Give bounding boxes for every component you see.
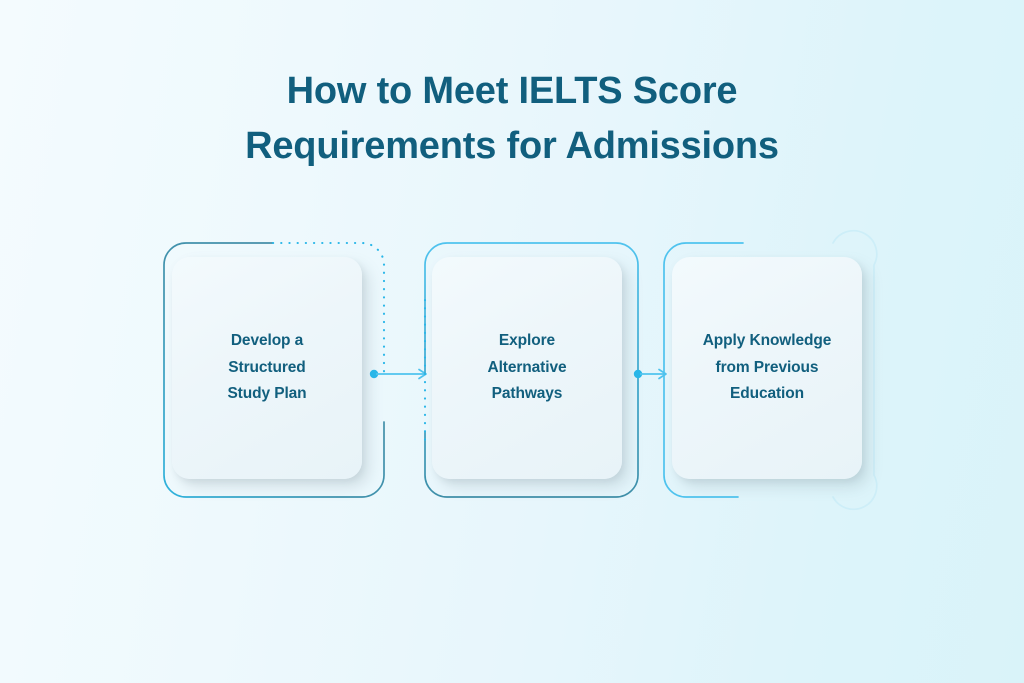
step-3-card[interactable]: Apply Knowledge from Previous Education <box>672 257 862 479</box>
step-1-label-line-1: Develop a <box>231 332 303 349</box>
step-2-label-line-2: Alternative <box>487 359 566 376</box>
step-2-label: Explore Alternative Pathways <box>471 328 582 408</box>
step-1-label-line-3: Study Plan <box>227 385 306 402</box>
step-3-label: Apply Knowledge from Previous Education <box>687 328 848 408</box>
step-1-card[interactable]: Develop a Structured Study Plan <box>172 257 362 479</box>
step-1-label-line-2: Structured <box>228 359 305 376</box>
step-2-label-line-1: Explore <box>499 332 555 349</box>
step-3-label-line-3: Education <box>730 385 804 402</box>
step-3-label-line-2: from Previous <box>716 359 819 376</box>
step-2-label-line-3: Pathways <box>492 385 563 402</box>
connector-1 <box>368 364 432 384</box>
diagram-canvas: How to Meet IELTS Score Requirements for… <box>0 0 1024 683</box>
step-1-label: Develop a Structured Study Plan <box>211 328 322 408</box>
process-flow: Develop a Structured Study Plan <box>0 0 1024 683</box>
step-2-card[interactable]: Explore Alternative Pathways <box>432 257 622 479</box>
step-3-label-line-1: Apply Knowledge <box>703 332 832 349</box>
